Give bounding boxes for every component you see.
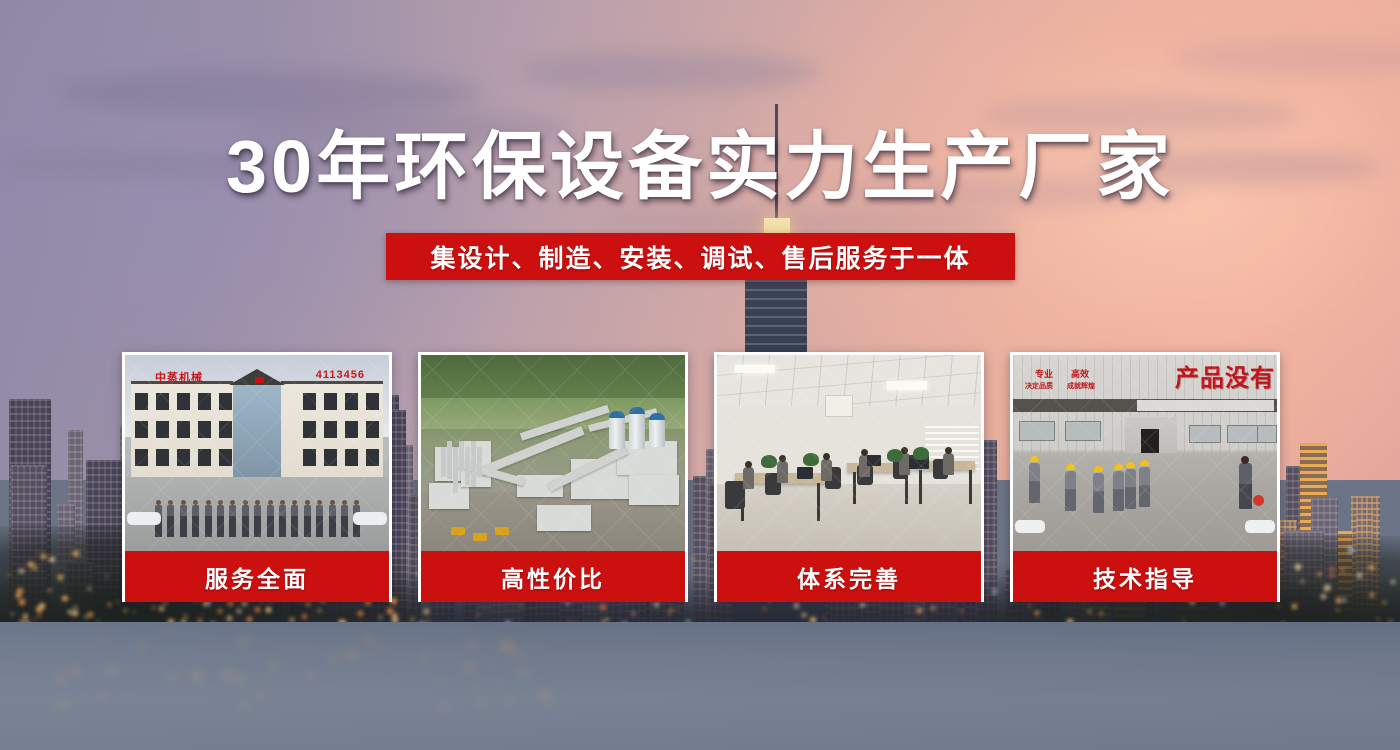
card-photo-workers: 产品没有 专业 高效 决定品质 成就辉煌 <box>1013 355 1277 551</box>
watermark-overlay <box>421 355 685 551</box>
card-caption-text: 服务全面 <box>205 560 309 594</box>
card-caption-bar: 技术指导 <box>1013 551 1277 602</box>
card-photo-headquarters: 中蒸机械 4113456 <box>125 355 389 551</box>
card-photo-plant <box>421 355 685 551</box>
feature-card[interactable]: 体系完善 <box>714 352 984 602</box>
page-title: 30年环保设备实力生产厂家 <box>0 130 1400 204</box>
card-caption-text: 技术指导 <box>1093 560 1197 594</box>
card-caption-bar: 高性价比 <box>421 551 685 602</box>
card-caption-bar: 服务全面 <box>125 551 389 602</box>
feature-card-list: 中蒸机械 4113456 服务全面 <box>122 352 1280 602</box>
card-caption-bar: 体系完善 <box>717 551 981 602</box>
card-photo-office <box>717 355 981 551</box>
subtitle-text: 集设计、制造、安装、调试、售后服务于一体 <box>430 239 970 275</box>
feature-card[interactable]: 高性价比 <box>418 352 688 602</box>
watermark-overlay <box>717 355 981 551</box>
card-caption-text: 高性价比 <box>501 560 605 594</box>
water-sheen <box>0 622 1400 750</box>
watermark-overlay <box>1013 355 1277 551</box>
watermark-overlay <box>125 355 389 551</box>
subtitle-banner: 集设计、制造、安装、调试、售后服务于一体 <box>386 233 1015 280</box>
card-caption-text: 体系完善 <box>797 560 901 594</box>
cloud <box>520 52 820 92</box>
banner-stage: 30年环保设备实力生产厂家 集设计、制造、安装、调试、售后服务于一体 中蒸机械 … <box>0 0 1400 750</box>
cloud <box>60 70 480 116</box>
feature-card[interactable]: 产品没有 专业 高效 决定品质 成就辉煌 技术指导 <box>1010 352 1280 602</box>
feature-card[interactable]: 中蒸机械 4113456 服务全面 <box>122 352 392 602</box>
